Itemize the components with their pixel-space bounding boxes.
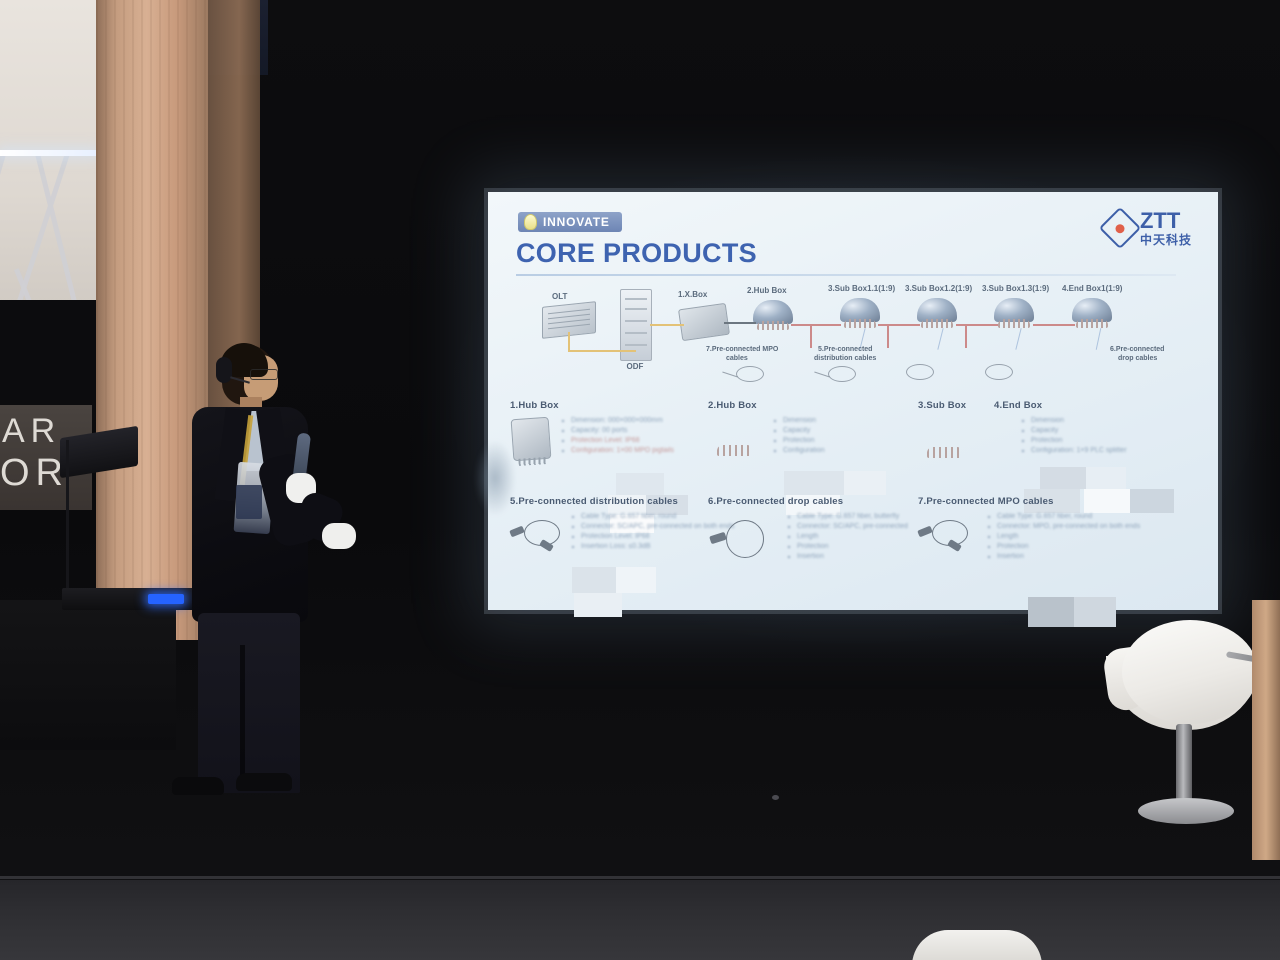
glasses-icon xyxy=(250,369,278,380)
wall-shadow-block xyxy=(0,300,96,420)
product-title-4: 4.End Box xyxy=(994,400,1202,411)
floor-object xyxy=(772,795,779,800)
bullet: Cable Type: G.657 fiber, butterfly xyxy=(788,513,908,520)
sub-box-dome-icon-3 xyxy=(994,298,1034,328)
drop-cable-icon xyxy=(710,520,766,558)
wood-post-right xyxy=(1252,600,1280,860)
presenter-shoe-right xyxy=(236,773,292,791)
link-dist-drop-1 xyxy=(810,324,812,348)
bullet: Insertion xyxy=(788,553,908,560)
presenter-shoe-left xyxy=(172,777,224,795)
product-bullets-6: Cable Type: G.657 fiber, butterfly Conne… xyxy=(788,513,908,560)
product-card-hub-box-2: 2.Hub Box Dimension Capacity Protection … xyxy=(708,400,908,457)
topology-diagram: OLT ODF 1.X.Box 2.Hub Box 3.Sub Box1.1(1… xyxy=(510,284,1200,389)
bullet: Connector: MPO, pre-connected on both en… xyxy=(988,523,1138,530)
callout-mpo-line2: cables xyxy=(726,355,748,362)
bullet: Connector: SC/APC, pre-connected xyxy=(788,523,908,530)
mic-stand xyxy=(66,440,69,600)
product-title-5: 5.Pre-connected distribution cables xyxy=(510,496,718,507)
sub-box-dome-icon-1 xyxy=(840,298,880,328)
product-bullets-4: Dimension Capacity Protection Configurat… xyxy=(1022,417,1202,454)
dist-cable-glyph xyxy=(828,366,856,382)
bullet: Capacity xyxy=(1022,427,1202,434)
product-title-6: 6.Pre-connected drop cables xyxy=(708,496,908,507)
topology-label-subbox-1-2: 3.Sub Box1.2(1:9) xyxy=(905,284,972,293)
white-glove-right xyxy=(322,523,356,549)
topology-label-odf: ODF xyxy=(620,362,650,371)
product-bullets-7: Cable Type: G.657 fiber, round Connector… xyxy=(988,513,1138,560)
white-tulip-chair xyxy=(1106,612,1266,840)
x-box-icon xyxy=(678,303,730,341)
drop-lead-2 xyxy=(937,328,944,350)
bullet: Protection xyxy=(988,543,1138,550)
end-box-dome-icon xyxy=(1072,298,1112,328)
topology-label-olt: OLT xyxy=(552,292,567,301)
product-card-hub-box-1: 1.Hub Box Dimension: 000×000×000mm Capac… xyxy=(510,400,720,457)
bullet: Protection xyxy=(1022,437,1202,444)
projection-screen: INNOVATE CORE PRODUCTS ZTT 中天科技 OLT ODF xyxy=(488,192,1218,610)
product-card-sub-box-3: 3.Sub Box xyxy=(918,400,1004,411)
product-title-3: 3.Sub Box xyxy=(918,400,1004,411)
bullet: Cable Type: G.657 fiber, round xyxy=(988,513,1138,520)
product-card-distribution-cables-5: 5.Pre-connected distribution cables Cabl… xyxy=(510,496,718,553)
slide-core-products: INNOVATE CORE PRODUCTS ZTT 中天科技 OLT ODF xyxy=(488,192,1218,610)
bullet: Length xyxy=(788,533,908,540)
slide-title: CORE PRODUCTS xyxy=(516,238,757,269)
mpo-cable-icon xyxy=(918,518,976,552)
stage-desk xyxy=(0,600,176,750)
logo-chinese-text: 中天科技 xyxy=(1140,234,1192,246)
mpo-cable-glyph xyxy=(736,366,764,382)
product-card-end-box-4: 4.End Box Dimension Capacity Protection … xyxy=(994,400,1202,457)
link-hub-sub1 xyxy=(791,324,841,326)
link-dist-drop-3 xyxy=(965,324,967,348)
callout-drop-line1: 6.Pre-connected xyxy=(1110,346,1164,353)
bullet: Dimension: 000×000×000mm xyxy=(562,417,720,424)
link-sub3-end xyxy=(1033,324,1075,326)
bullet: Configuration xyxy=(774,447,908,454)
ztt-logo: ZTT 中天科技 xyxy=(1105,210,1192,246)
foreground-chair xyxy=(912,930,1042,960)
topology-label-hubbox: 2.Hub Box xyxy=(747,286,787,295)
topology-label-xbox: 1.X.Box xyxy=(678,290,707,299)
stage-floor-edge xyxy=(0,876,1280,879)
presenter xyxy=(178,345,368,805)
bullet: Configuration: 1×9 PLC splitter xyxy=(1022,447,1202,454)
chair-stem xyxy=(1176,724,1192,802)
link-olt-down xyxy=(568,332,570,350)
dist-cable-glyph-2 xyxy=(906,364,934,380)
product-cards: 1.Hub Box Dimension: 000×000×000mm Capac… xyxy=(510,400,1202,590)
sub-box-dome-icon-2 xyxy=(917,298,957,328)
venue-sign-line-1: AR xyxy=(2,412,61,451)
product-title-7: 7.Pre-connected MPO cables xyxy=(918,496,1138,507)
stage-floor xyxy=(0,880,1280,960)
stage-scene: AR OR INNOVATE CORE PRODUCTS ZTT 中天科技 xyxy=(0,0,1280,960)
link-odf-xbox xyxy=(650,324,684,326)
bullet: Capacity: 00 ports xyxy=(562,427,720,434)
hub-box-dome-icon xyxy=(753,300,793,330)
bullet: Length xyxy=(988,533,1138,540)
topology-label-subbox-1-3: 3.Sub Box1.3(1:9) xyxy=(982,284,1049,293)
bullet: Cable Type: G.657 fiber, round xyxy=(572,513,718,520)
callout-mpo-line1: 7.Pre-connected MPO xyxy=(706,346,778,353)
link-dist-drop-2 xyxy=(887,324,889,348)
link-sub1-sub2 xyxy=(878,324,920,326)
bullet: Insertion Loss: ≤0.3dB xyxy=(572,543,718,550)
diamond-dot-icon xyxy=(1099,207,1141,249)
innovate-badge: INNOVATE xyxy=(518,212,622,232)
product-bullets-5: Cable Type: G.657 fiber, round Connector… xyxy=(572,513,718,550)
drop-lead-3 xyxy=(1015,328,1022,350)
bullet: Protection xyxy=(774,437,908,444)
chair-seat xyxy=(1122,620,1258,724)
topology-label-subbox-1-1: 3.Sub Box1.1(1:9) xyxy=(828,284,895,293)
innovate-badge-label: INNOVATE xyxy=(543,215,610,229)
product-card-drop-cables-6: 6.Pre-connected drop cables Cable Type: … xyxy=(708,496,908,563)
bullet: Configuration: 1×00 MPO pigtails xyxy=(562,447,720,454)
distribution-cable-icon xyxy=(510,518,568,552)
led-light-strip xyxy=(0,150,96,156)
link-olt-odf xyxy=(568,350,636,352)
link-xbox-hub xyxy=(724,322,756,324)
product-title-1: 1.Hub Box xyxy=(510,400,720,411)
hub-box-flat-icon xyxy=(511,417,552,462)
callout-dist-line1: 5.Pre-connected xyxy=(818,346,872,353)
venue-sign-line-2: OR xyxy=(0,452,69,495)
sub-box-dome-icon-card xyxy=(922,422,968,458)
callout-drop-line2: drop cables xyxy=(1118,355,1157,362)
bullet: Dimension xyxy=(1022,417,1202,424)
bullet: Dimension xyxy=(774,417,908,424)
bullet: Capacity xyxy=(774,427,908,434)
callout-dist-line2: distribution cables xyxy=(814,355,876,362)
product-bullets-1: Dimension: 000×000×000mm Capacity: 00 po… xyxy=(562,417,720,454)
bullet: Protection xyxy=(788,543,908,550)
product-title-2: 2.Hub Box xyxy=(708,400,908,411)
chair-base xyxy=(1138,798,1234,824)
product-bullets-2: Dimension Capacity Protection Configurat… xyxy=(774,417,908,454)
bullet: Connector: SC/APC, pre-connected on both… xyxy=(572,523,718,530)
trouser-split xyxy=(240,645,245,785)
dist-cable-glyph-3 xyxy=(985,364,1013,380)
presenter-trousers xyxy=(198,613,300,793)
presenter-hand-shadow xyxy=(474,440,516,516)
bullet: Protection Level: IP68 xyxy=(562,437,720,444)
hub-box-dome-icon-card xyxy=(712,420,758,456)
logo-brand-text: ZTT xyxy=(1140,210,1192,232)
bullet: Insertion xyxy=(988,553,1138,560)
title-underline xyxy=(516,274,1176,276)
presenter-badge xyxy=(236,485,262,519)
topology-label-endbox: 4.End Box1(1:9) xyxy=(1062,284,1122,293)
bullet: Protection Level: IP68 xyxy=(572,533,718,540)
link-sub2-sub3 xyxy=(956,324,998,326)
lightbulb-icon xyxy=(524,214,537,230)
product-card-mpo-cables-7: 7.Pre-connected MPO cables Cable Type: G… xyxy=(918,496,1138,563)
headset-microphone xyxy=(216,357,232,383)
drop-lead-4 xyxy=(1096,328,1102,350)
